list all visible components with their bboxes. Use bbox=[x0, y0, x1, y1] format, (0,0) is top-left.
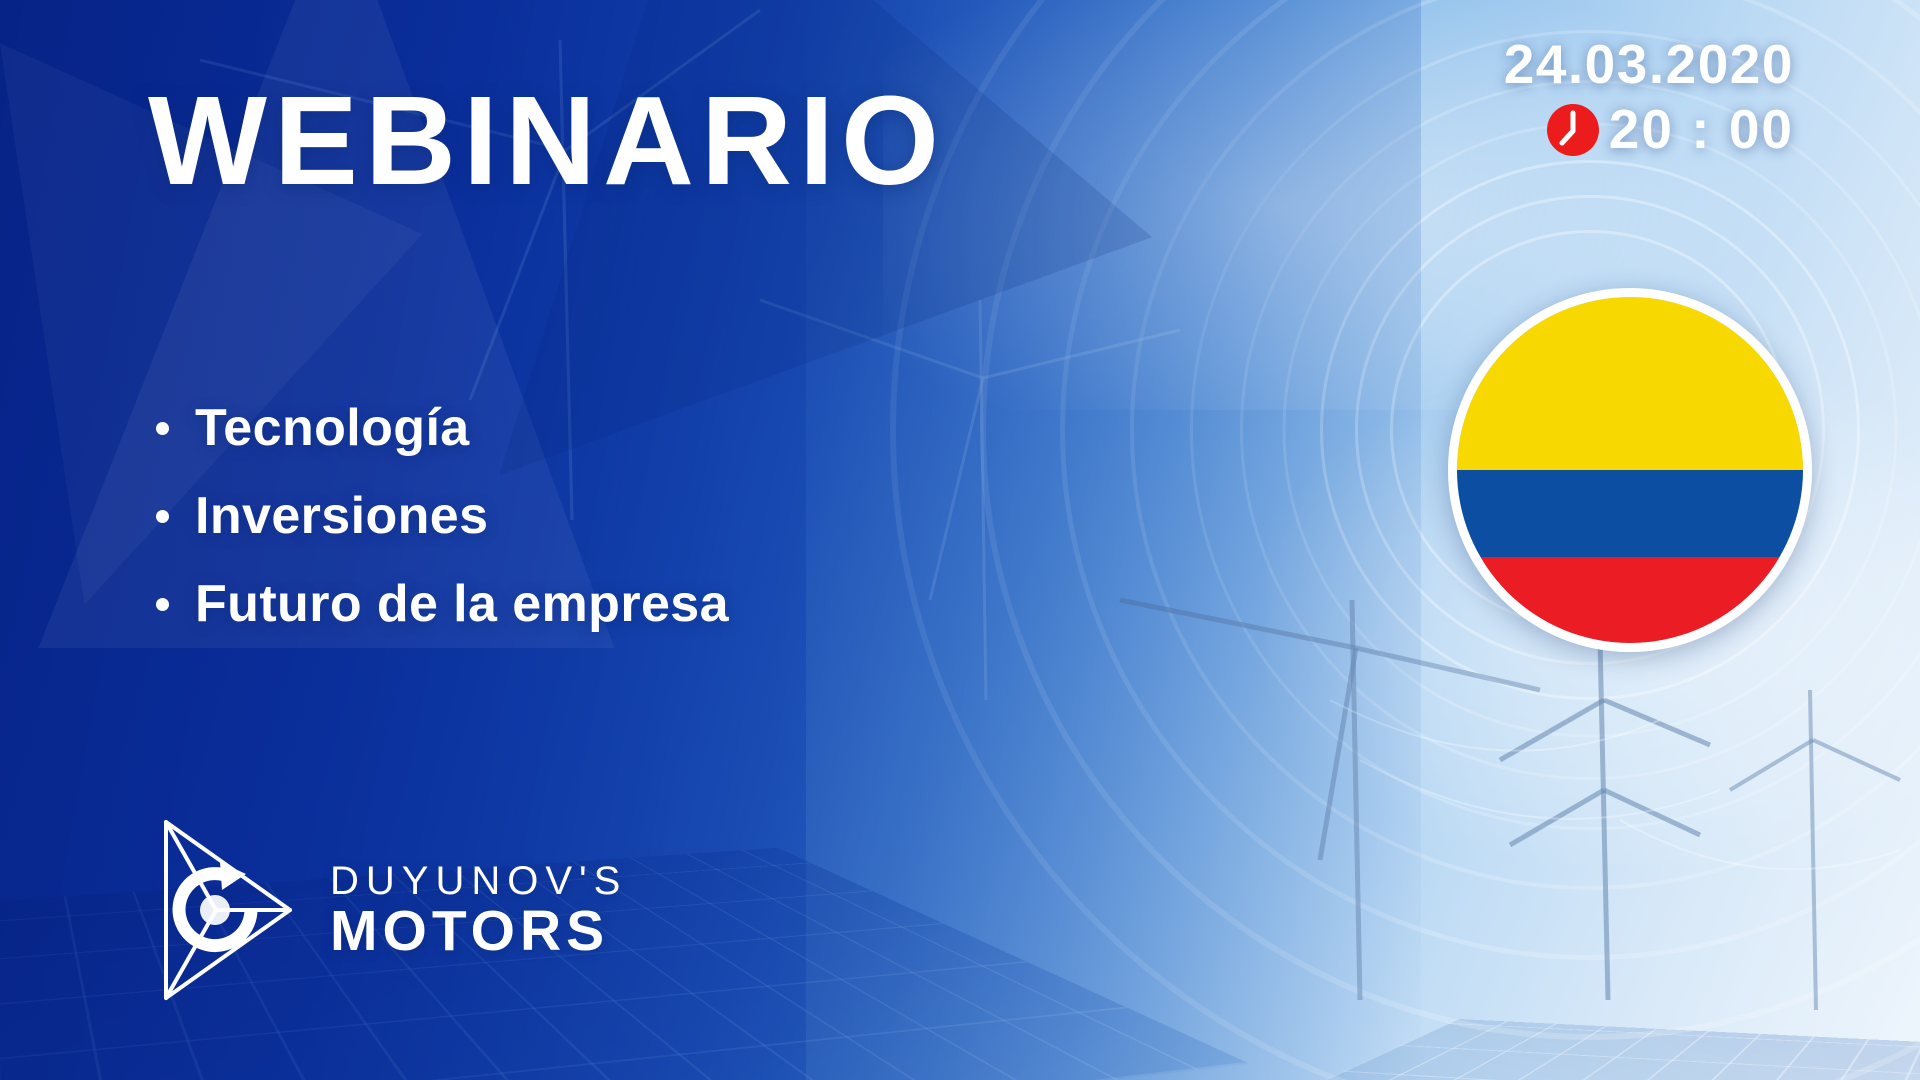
colombia-flag-icon bbox=[1448, 288, 1812, 652]
flag-band-red bbox=[1457, 557, 1803, 644]
topic-label: Inversiones bbox=[195, 486, 488, 546]
duyunov-motors-mark-icon bbox=[150, 812, 300, 1008]
bullet-dot-icon bbox=[156, 598, 169, 611]
bullet-dot-icon bbox=[156, 510, 169, 523]
topic-list: Tecnología Inversiones Futuro de la empr… bbox=[156, 398, 729, 662]
flag-band-yellow bbox=[1457, 297, 1803, 470]
topic-label: Futuro de la empresa bbox=[195, 574, 729, 634]
brand-line-1: DUYUNOV'S bbox=[330, 861, 627, 901]
topic-label: Tecnología bbox=[195, 398, 470, 458]
webinar-banner: WEBINARIO 24.03.2020 20 : 00 Tecnología … bbox=[0, 0, 1920, 1080]
webinar-date: 24.03.2020 bbox=[1504, 36, 1794, 94]
list-item: Inversiones bbox=[156, 486, 729, 546]
webinar-time: 20 : 00 bbox=[1609, 102, 1794, 157]
brand-wordmark: DUYUNOV'S MOTORS bbox=[330, 861, 627, 960]
brand-line-2: MOTORS bbox=[330, 903, 627, 960]
bullet-dot-icon bbox=[156, 422, 169, 435]
page-title: WEBINARIO bbox=[148, 78, 946, 204]
schedule-block: 24.03.2020 20 : 00 bbox=[1504, 36, 1794, 158]
webinar-time-row: 20 : 00 bbox=[1504, 102, 1794, 158]
flag-band-blue bbox=[1457, 470, 1803, 557]
list-item: Tecnología bbox=[156, 398, 729, 458]
clock-icon bbox=[1545, 102, 1601, 158]
brand-logo: DUYUNOV'S MOTORS bbox=[150, 812, 627, 1008]
banner-content: WEBINARIO 24.03.2020 20 : 00 Tecnología … bbox=[0, 0, 1920, 1080]
list-item: Futuro de la empresa bbox=[156, 574, 729, 634]
country-flag-badge bbox=[1448, 288, 1812, 652]
